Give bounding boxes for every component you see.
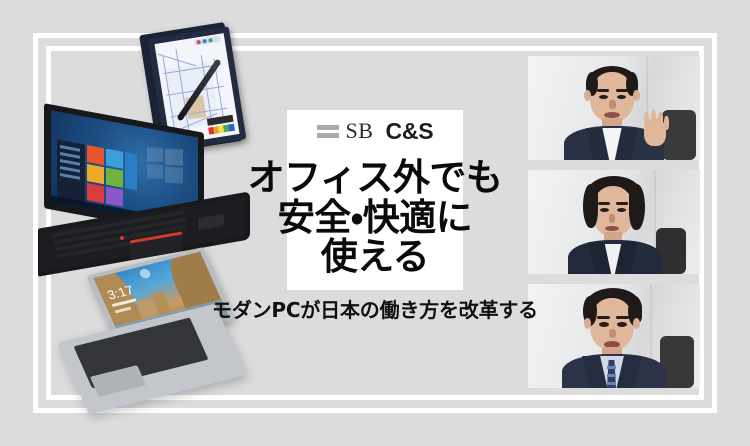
subheadline: モダンPCが日本の働き方を改革する — [150, 298, 600, 322]
logo-text-sb: SB — [346, 120, 374, 142]
banner-canvas: 3:17 — [0, 0, 750, 446]
headline: オフィス外でも 安全・快適に 使える — [215, 158, 535, 277]
device-convertible-laptop: 3:17 — [72, 258, 262, 443]
sb-logo-bars-icon — [317, 125, 339, 138]
interviewee-photo-2 — [528, 170, 700, 274]
logo-text-cs: C&S — [385, 120, 433, 143]
interviewee-photo-1 — [528, 56, 700, 160]
sb-cs-logo: SB C&S — [287, 118, 463, 144]
